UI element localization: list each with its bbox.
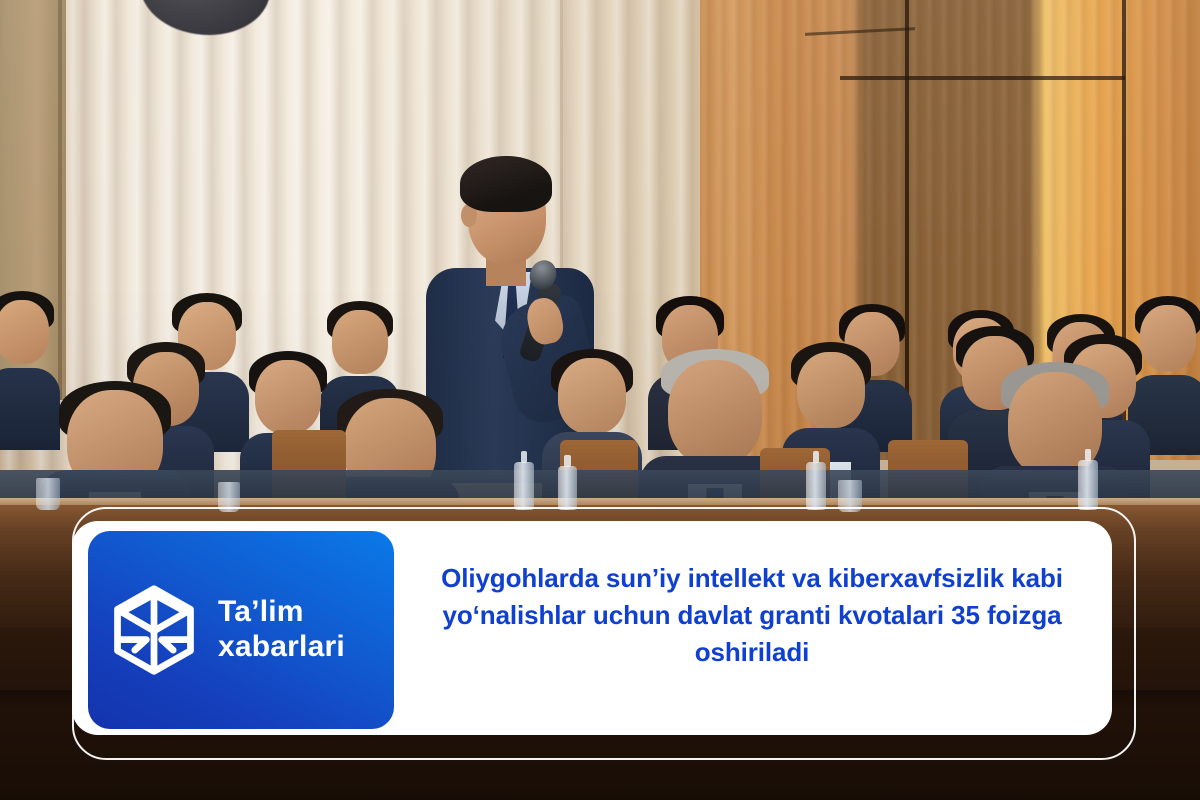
water-bottle-3 xyxy=(806,462,826,510)
drinking-glass-1 xyxy=(36,478,60,510)
water-bottle-4 xyxy=(1078,460,1098,510)
brand-name-line-1: Ta’lim xyxy=(218,595,345,630)
cube-outline-icon xyxy=(106,582,202,678)
water-bottle-2 xyxy=(558,466,577,510)
news-headline: Oliygohlarda sun’iy intellekt va kiberxa… xyxy=(402,560,1102,671)
head xyxy=(797,352,865,428)
water-bottle-1 xyxy=(514,462,534,510)
head xyxy=(558,358,626,434)
head xyxy=(0,300,49,364)
head xyxy=(668,360,762,466)
brand-tile[interactable]: Ta’lim xabarlari xyxy=(88,531,394,729)
speaker-hair xyxy=(460,156,552,212)
screenshot-stage: Ta’lim xabarlari Oliygohlarda sun’iy int… xyxy=(0,0,1200,800)
brand-name-line-2: xabarlari xyxy=(218,630,345,665)
wood-seam-horizontal xyxy=(840,76,1125,80)
head xyxy=(255,360,321,434)
brand-wordmark: Ta’lim xabarlari xyxy=(218,595,345,665)
head xyxy=(332,310,388,374)
